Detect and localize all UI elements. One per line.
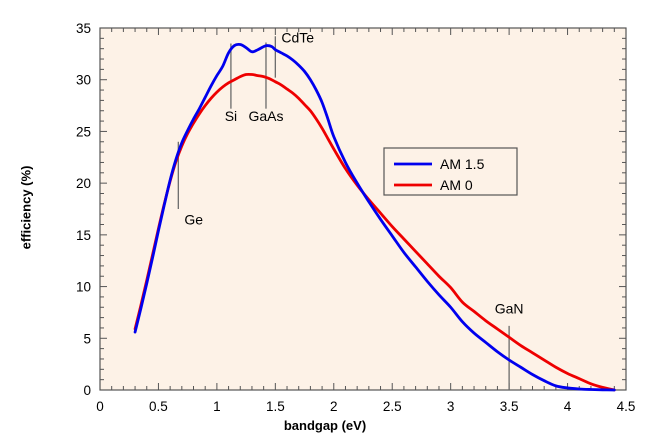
- y-tick-label: 0: [83, 383, 91, 398]
- x-axis-title: bandgap (eV): [0, 418, 650, 433]
- x-tick-label: 0: [96, 399, 104, 414]
- x-tick-label: 4.5: [617, 399, 636, 414]
- annotation-label-si: Si: [225, 108, 237, 124]
- x-tick-label: 2: [330, 399, 338, 414]
- x-tick-label: 4: [564, 399, 572, 414]
- x-tick-label: 3: [447, 399, 455, 414]
- annotation-label-ge: Ge: [184, 212, 203, 228]
- chart-container: 00.511.522.533.544.505101520253035GeSiGa…: [0, 0, 650, 443]
- annotation-label-cdte: CdTe: [281, 29, 314, 45]
- annotation-label-gaas: GaAs: [248, 108, 283, 124]
- y-tick-label: 5: [83, 331, 91, 346]
- y-tick-label: 30: [76, 73, 91, 88]
- x-tick-label: 2.5: [383, 399, 402, 414]
- y-axis-title: efficiency (%): [19, 138, 34, 278]
- efficiency-vs-bandgap-plot: 00.511.522.533.544.505101520253035GeSiGa…: [0, 0, 650, 443]
- legend-label-am-0: AM 0: [440, 177, 473, 193]
- x-tick-label: 1.5: [266, 399, 285, 414]
- y-tick-label: 10: [76, 280, 91, 295]
- annotation-label-gan: GaN: [495, 300, 524, 316]
- legend-label-am-1-5: AM 1.5: [440, 156, 485, 172]
- y-tick-label: 15: [76, 228, 91, 243]
- x-tick-label: 0.5: [149, 399, 168, 414]
- x-tick-label: 1: [213, 399, 221, 414]
- x-tick-label: 3.5: [500, 399, 519, 414]
- y-tick-label: 20: [76, 176, 91, 191]
- y-tick-label: 35: [76, 21, 91, 36]
- y-tick-label: 25: [76, 124, 91, 139]
